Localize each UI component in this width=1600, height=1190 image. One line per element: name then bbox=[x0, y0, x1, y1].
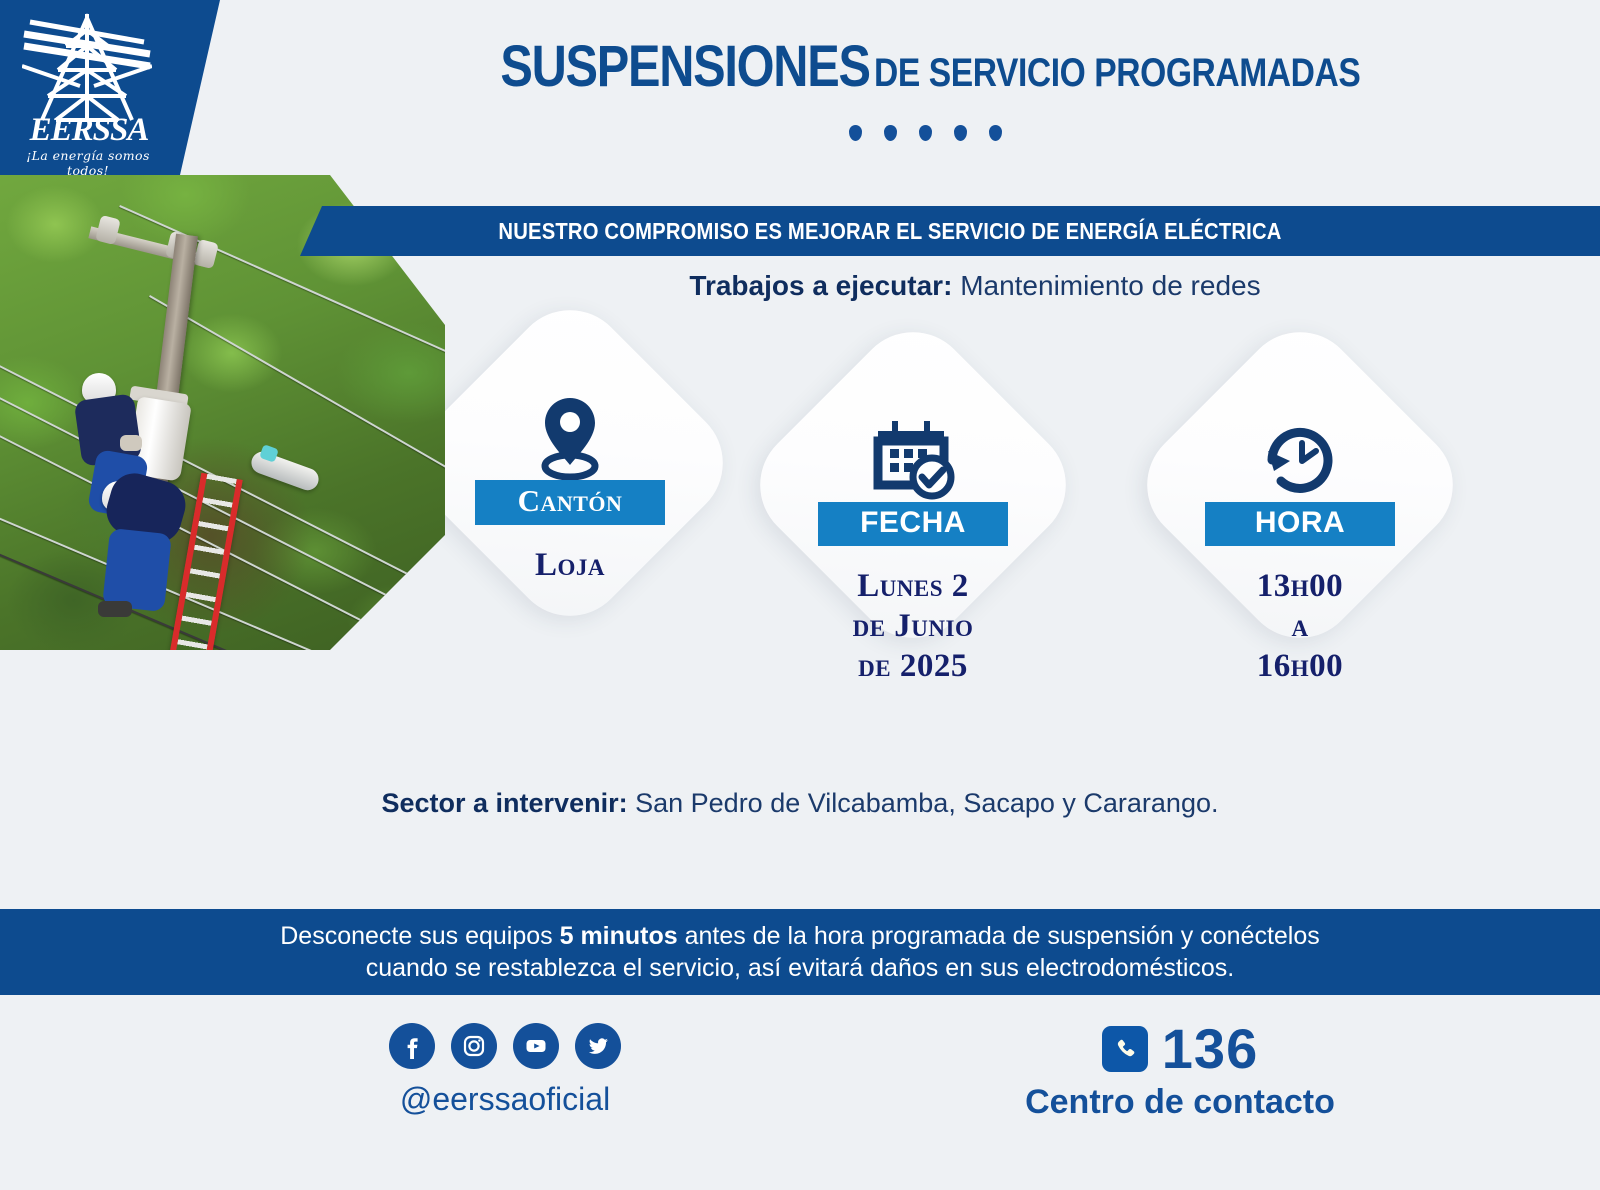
card-label-canton: Cantón bbox=[475, 480, 665, 525]
divider-dot bbox=[849, 125, 862, 141]
card-hora: HORA 13h00 a 16h00 bbox=[1110, 382, 1490, 752]
twitter-icon[interactable] bbox=[575, 1023, 621, 1069]
logo-tagline: ¡La energía somos todos! bbox=[8, 148, 168, 178]
commitment-banner: NUESTRO COMPROMISO ES MEJORAR EL SERVICI… bbox=[300, 206, 1600, 256]
footer: @eerssaoficial 136 Centro de contacto bbox=[0, 995, 1600, 1190]
worker-glove bbox=[120, 435, 142, 451]
divider-dot bbox=[884, 125, 897, 141]
info-cards: Cantón Loja bbox=[380, 360, 1590, 730]
title-bold: SUSPENSIONES bbox=[500, 38, 869, 96]
instagram-icon[interactable] bbox=[451, 1023, 497, 1069]
social-block: @eerssaoficial bbox=[380, 1023, 630, 1118]
divider-dot bbox=[919, 125, 932, 141]
contact-block: 136 Centro de contacto bbox=[1000, 1021, 1360, 1122]
page-title: SUSPENSIONESDE SERVICIO PROGRAMADAS bbox=[430, 38, 1420, 96]
commitment-banner-text: NUESTRO COMPROMISO ES MEJORAR EL SERVICI… bbox=[371, 206, 1409, 256]
notice-line1-pre: Desconecte sus equipos bbox=[280, 922, 559, 950]
clock-history-icon bbox=[1110, 382, 1490, 494]
phone-icon[interactable] bbox=[1102, 1026, 1148, 1072]
sector-line: Sector a intervenir: San Pedro de Vilcab… bbox=[140, 788, 1460, 819]
phone-number: 136 bbox=[1162, 1021, 1258, 1077]
calendar-check-icon bbox=[723, 382, 1103, 494]
sector-value: San Pedro de Vilcabamba, Sacapo y Carara… bbox=[635, 788, 1218, 818]
worker-legs bbox=[102, 528, 172, 612]
works-line: Trabajos a ejecutar: Mantenimiento de re… bbox=[430, 270, 1520, 302]
card-value-canton: Loja bbox=[380, 545, 760, 585]
transmission-tower-icon bbox=[22, 8, 152, 126]
disconnect-notice: Desconecte sus equipos 5 minutos antes d… bbox=[0, 909, 1600, 995]
title-rest: DE SERVICIO PROGRAMADAS bbox=[874, 53, 1360, 93]
card-label-fecha: FECHA bbox=[818, 502, 1008, 546]
poster-root: EERSSA ¡La energía somos todos! SUSPENSI… bbox=[0, 0, 1600, 1190]
dot-divider bbox=[430, 125, 1420, 146]
notice-line-2: cuando se restablezca el servicio, así e… bbox=[366, 952, 1235, 984]
divider-dot bbox=[989, 125, 1002, 141]
card-value-fecha: Lunes 2 de Junio de 2025 bbox=[723, 566, 1103, 687]
card-fecha: FECHA Lunes 2 de Junio de 2025 bbox=[723, 382, 1103, 752]
contact-label: Centro de contacto bbox=[1000, 1083, 1360, 1122]
facebook-icon[interactable] bbox=[389, 1023, 435, 1069]
worker-boot bbox=[98, 601, 132, 617]
logo-wordmark: EERSSA bbox=[14, 114, 164, 147]
notice-line-1: Desconecte sus equipos 5 minutos antes d… bbox=[280, 920, 1320, 952]
works-value: Mantenimiento de redes bbox=[960, 270, 1260, 301]
youtube-icon[interactable] bbox=[513, 1023, 559, 1069]
card-value-hora: 13h00 a 16h00 bbox=[1110, 566, 1490, 687]
eerssa-logo-panel: EERSSA ¡La energía somos todos! bbox=[0, 0, 220, 175]
notice-line1-post: antes de la hora programada de suspensió… bbox=[678, 922, 1320, 950]
card-label-hora: HORA bbox=[1205, 502, 1395, 546]
works-label: Trabajos a ejecutar: bbox=[689, 270, 952, 301]
divider-dot bbox=[954, 125, 967, 141]
sector-label: Sector a intervenir: bbox=[382, 788, 628, 818]
notice-line1-bold: 5 minutos bbox=[560, 922, 678, 950]
social-handle[interactable]: @eerssaoficial bbox=[380, 1081, 630, 1118]
